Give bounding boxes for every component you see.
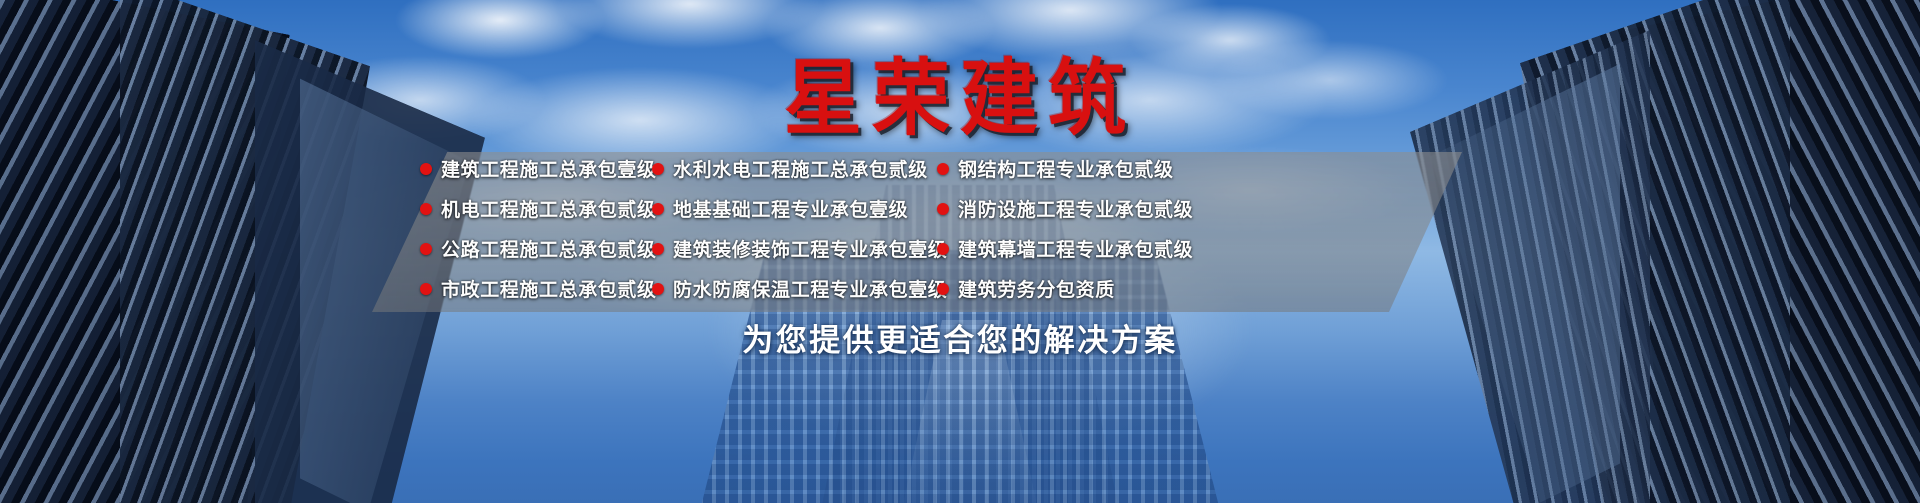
red-dot-icon xyxy=(652,203,664,215)
qualification-label: 消防设施工程专业承包贰级 xyxy=(958,195,1193,222)
qualifications-panel: 建筑工程施工总承包壹级 机电工程施工总承包贰级 公路工程施工总承包贰级 市政工程… xyxy=(372,152,1462,312)
qualification-column-2: 水利水电工程施工总承包贰级 地基基础工程专业承包壹级 建筑装修装饰工程专业承包壹… xyxy=(652,152,947,312)
qualification-label: 水利水电工程施工总承包贰级 xyxy=(673,155,928,182)
red-dot-icon xyxy=(652,163,664,175)
red-dot-icon xyxy=(937,243,949,255)
list-item: 机电工程施工总承包贰级 xyxy=(420,192,657,225)
qualification-label: 机电工程施工总承包贰级 xyxy=(441,195,657,222)
red-dot-icon xyxy=(420,243,432,255)
qualification-label: 钢结构工程专业承包贰级 xyxy=(958,155,1174,182)
red-dot-icon xyxy=(420,283,432,295)
list-item: 建筑幕墙工程专业承包贰级 xyxy=(937,232,1193,265)
list-item: 建筑装修装饰工程专业承包壹级 xyxy=(652,232,947,265)
red-dot-icon xyxy=(652,283,664,295)
banner-tagline: 为您提供更适合您的解决方案 xyxy=(0,315,1920,360)
red-dot-icon xyxy=(420,203,432,215)
list-item: 钢结构工程专业承包贰级 xyxy=(937,152,1193,185)
red-dot-icon xyxy=(937,203,949,215)
list-item: 地基基础工程专业承包壹级 xyxy=(652,192,947,225)
list-item: 市政工程施工总承包贰级 xyxy=(420,272,657,305)
list-item: 水利水电工程施工总承包贰级 xyxy=(652,152,947,185)
qualification-label: 市政工程施工总承包贰级 xyxy=(441,275,657,302)
red-dot-icon xyxy=(937,283,949,295)
red-dot-icon xyxy=(420,163,432,175)
banner-tagline-text: 为您提供更适合您的解决方案 xyxy=(742,315,1178,360)
list-item: 公路工程施工总承包贰级 xyxy=(420,232,657,265)
qualification-label: 防水防腐保温工程专业承包壹级 xyxy=(673,275,947,302)
qualification-label: 建筑装修装饰工程专业承包壹级 xyxy=(673,235,947,262)
qualification-column-3: 钢结构工程专业承包贰级 消防设施工程专业承包贰级 建筑幕墙工程专业承包贰级 建筑… xyxy=(937,152,1193,312)
hero-banner: 星荣建筑 建筑工程施工总承包壹级 机电工程施工总承包贰级 公路工程施工总承包贰级 xyxy=(0,0,1920,503)
list-item: 防水防腐保温工程专业承包壹级 xyxy=(652,272,947,305)
red-dot-icon xyxy=(937,163,949,175)
qualification-label: 建筑劳务分包资质 xyxy=(958,275,1115,302)
qualification-label: 建筑幕墙工程专业承包贰级 xyxy=(958,235,1193,262)
qualification-label: 建筑工程施工总承包壹级 xyxy=(441,155,657,182)
list-item: 建筑工程施工总承包壹级 xyxy=(420,152,657,185)
qualification-label: 公路工程施工总承包贰级 xyxy=(441,235,657,262)
list-item: 建筑劳务分包资质 xyxy=(937,272,1193,305)
red-dot-icon xyxy=(652,243,664,255)
qualification-column-1: 建筑工程施工总承包壹级 机电工程施工总承包贰级 公路工程施工总承包贰级 市政工程… xyxy=(420,152,657,312)
qualification-label: 地基基础工程专业承包壹级 xyxy=(673,195,908,222)
list-item: 消防设施工程专业承包贰级 xyxy=(937,192,1193,225)
